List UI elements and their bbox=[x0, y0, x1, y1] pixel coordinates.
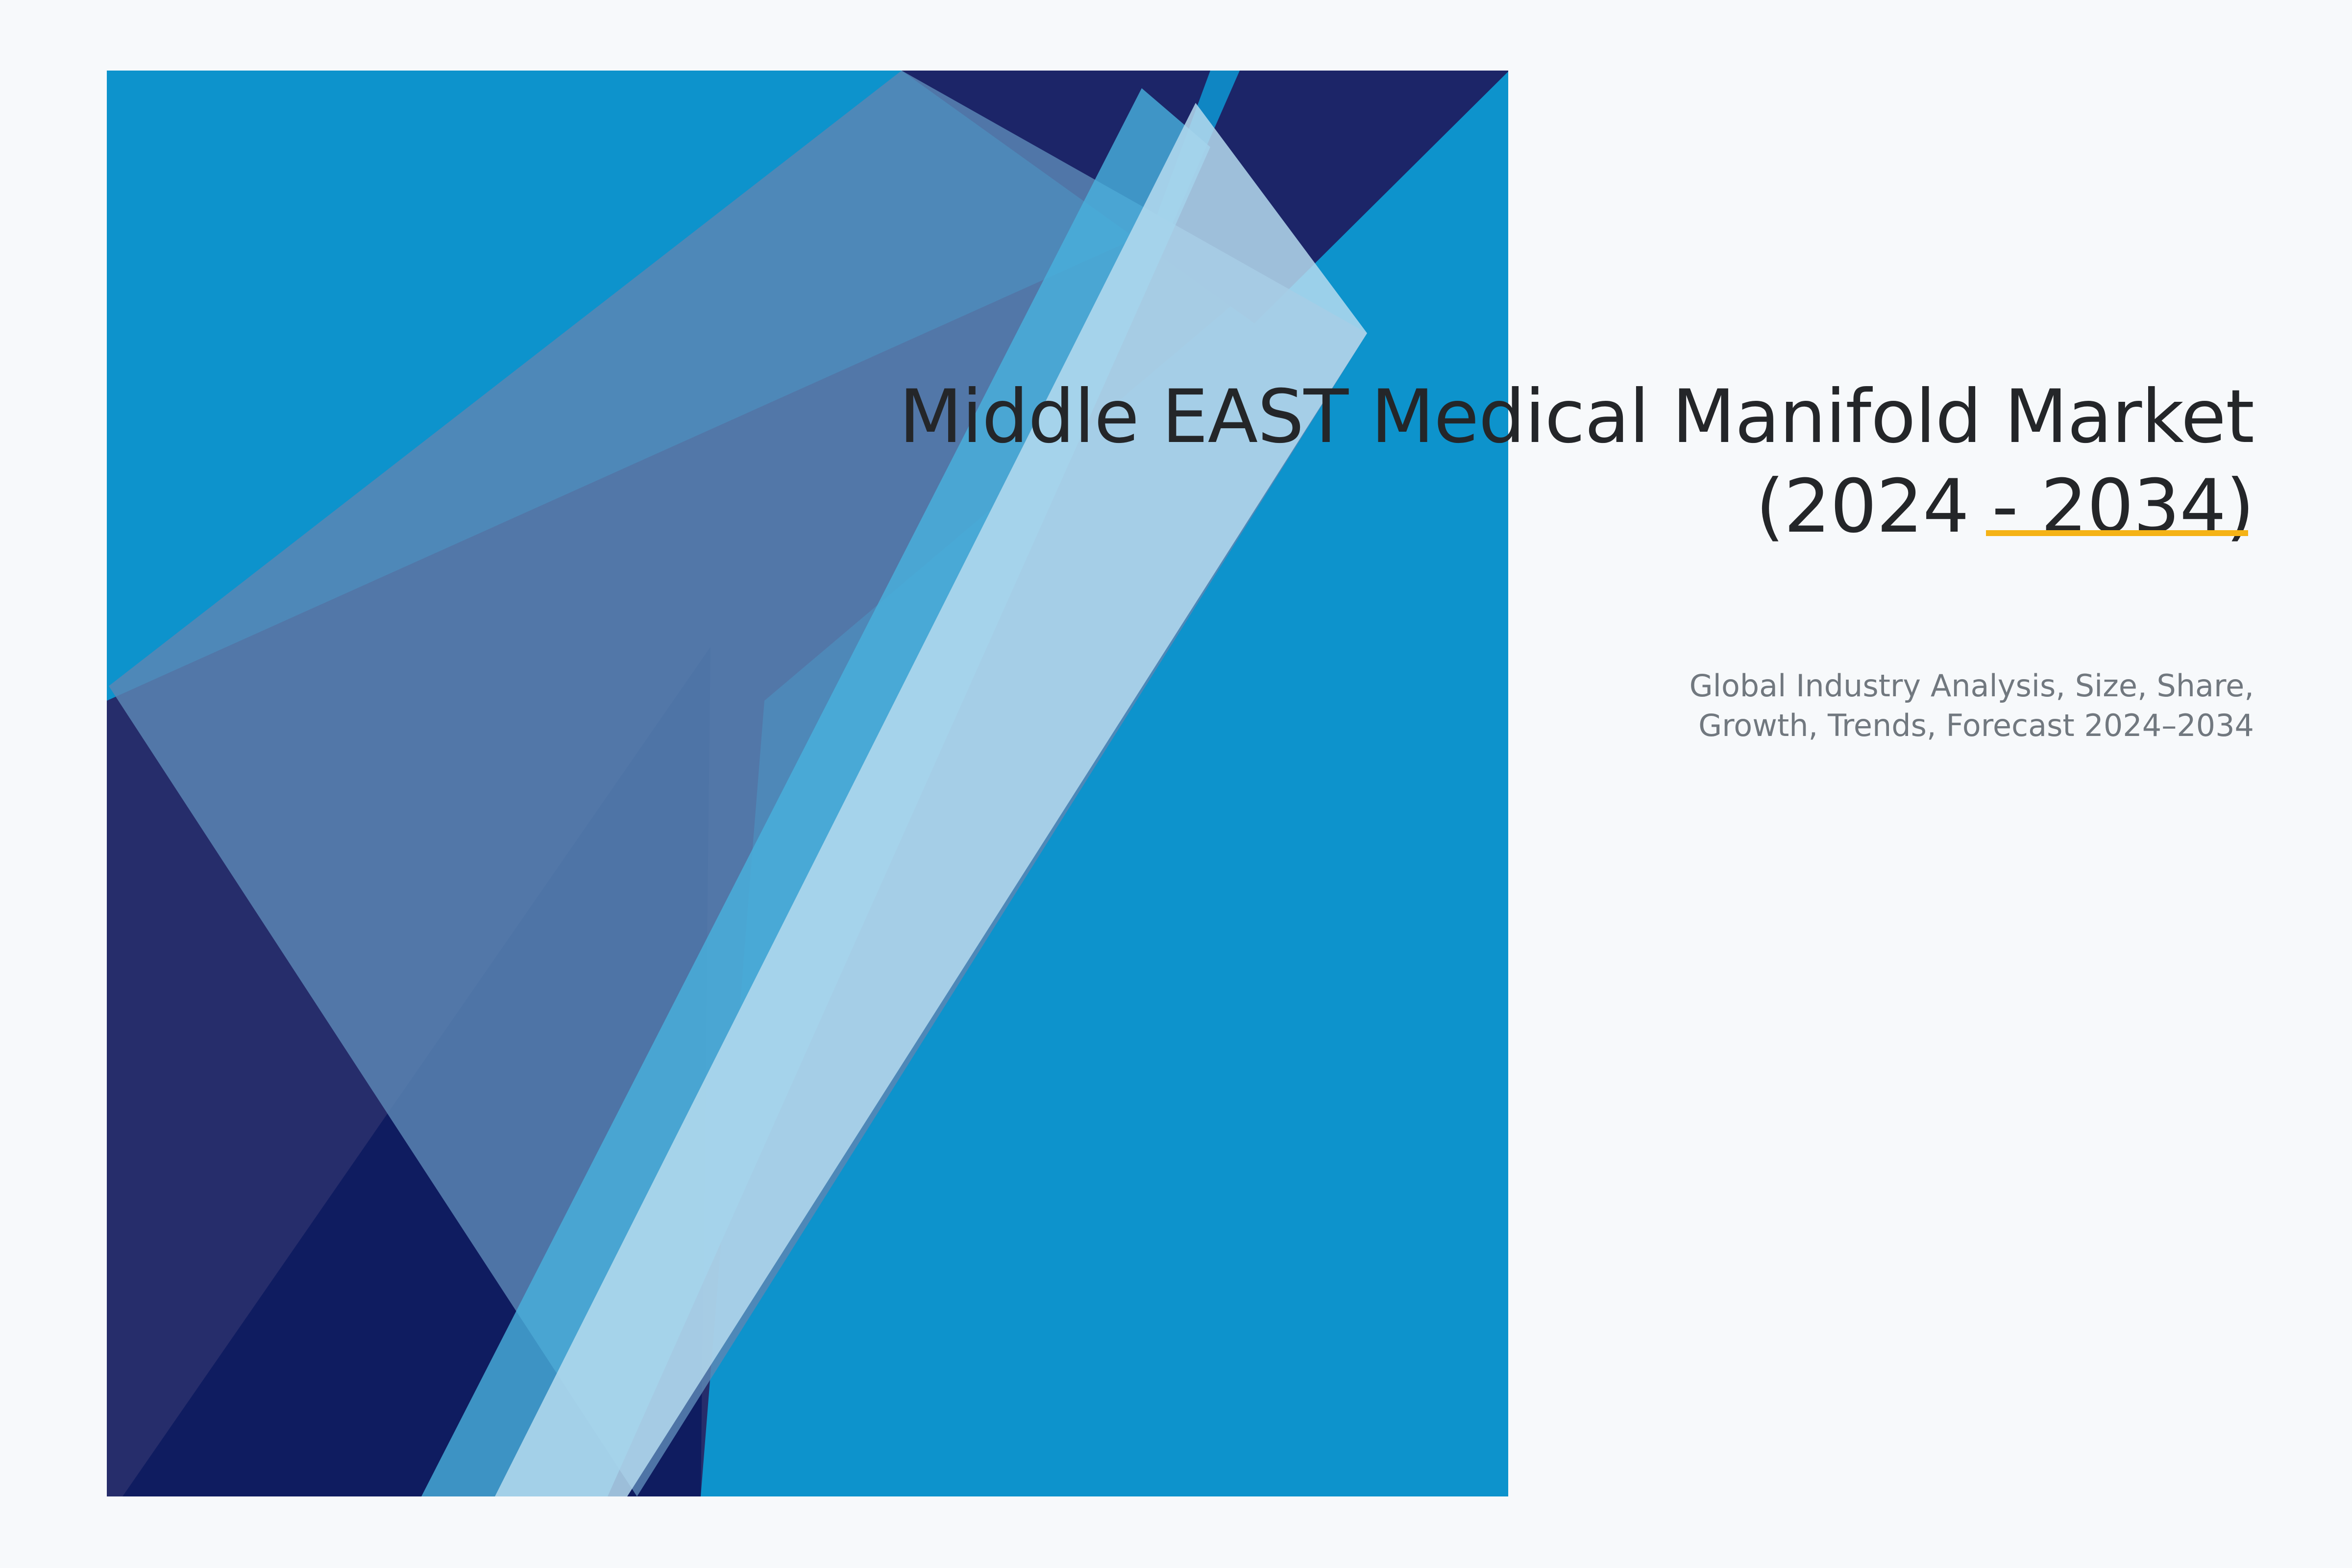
cover-text-block: Middle EAST Medical Manifold Market (202… bbox=[784, 372, 2254, 552]
abstract-polygon-graphic bbox=[0, 0, 2352, 1568]
page-title: Middle EAST Medical Manifold Market (202… bbox=[784, 372, 2254, 552]
report-cover: Middle EAST Medical Manifold Market (202… bbox=[0, 0, 2352, 1568]
page-subtitle: Global Industry Analysis, Size, Share, G… bbox=[784, 666, 2254, 745]
accent-underline bbox=[1986, 530, 2248, 536]
